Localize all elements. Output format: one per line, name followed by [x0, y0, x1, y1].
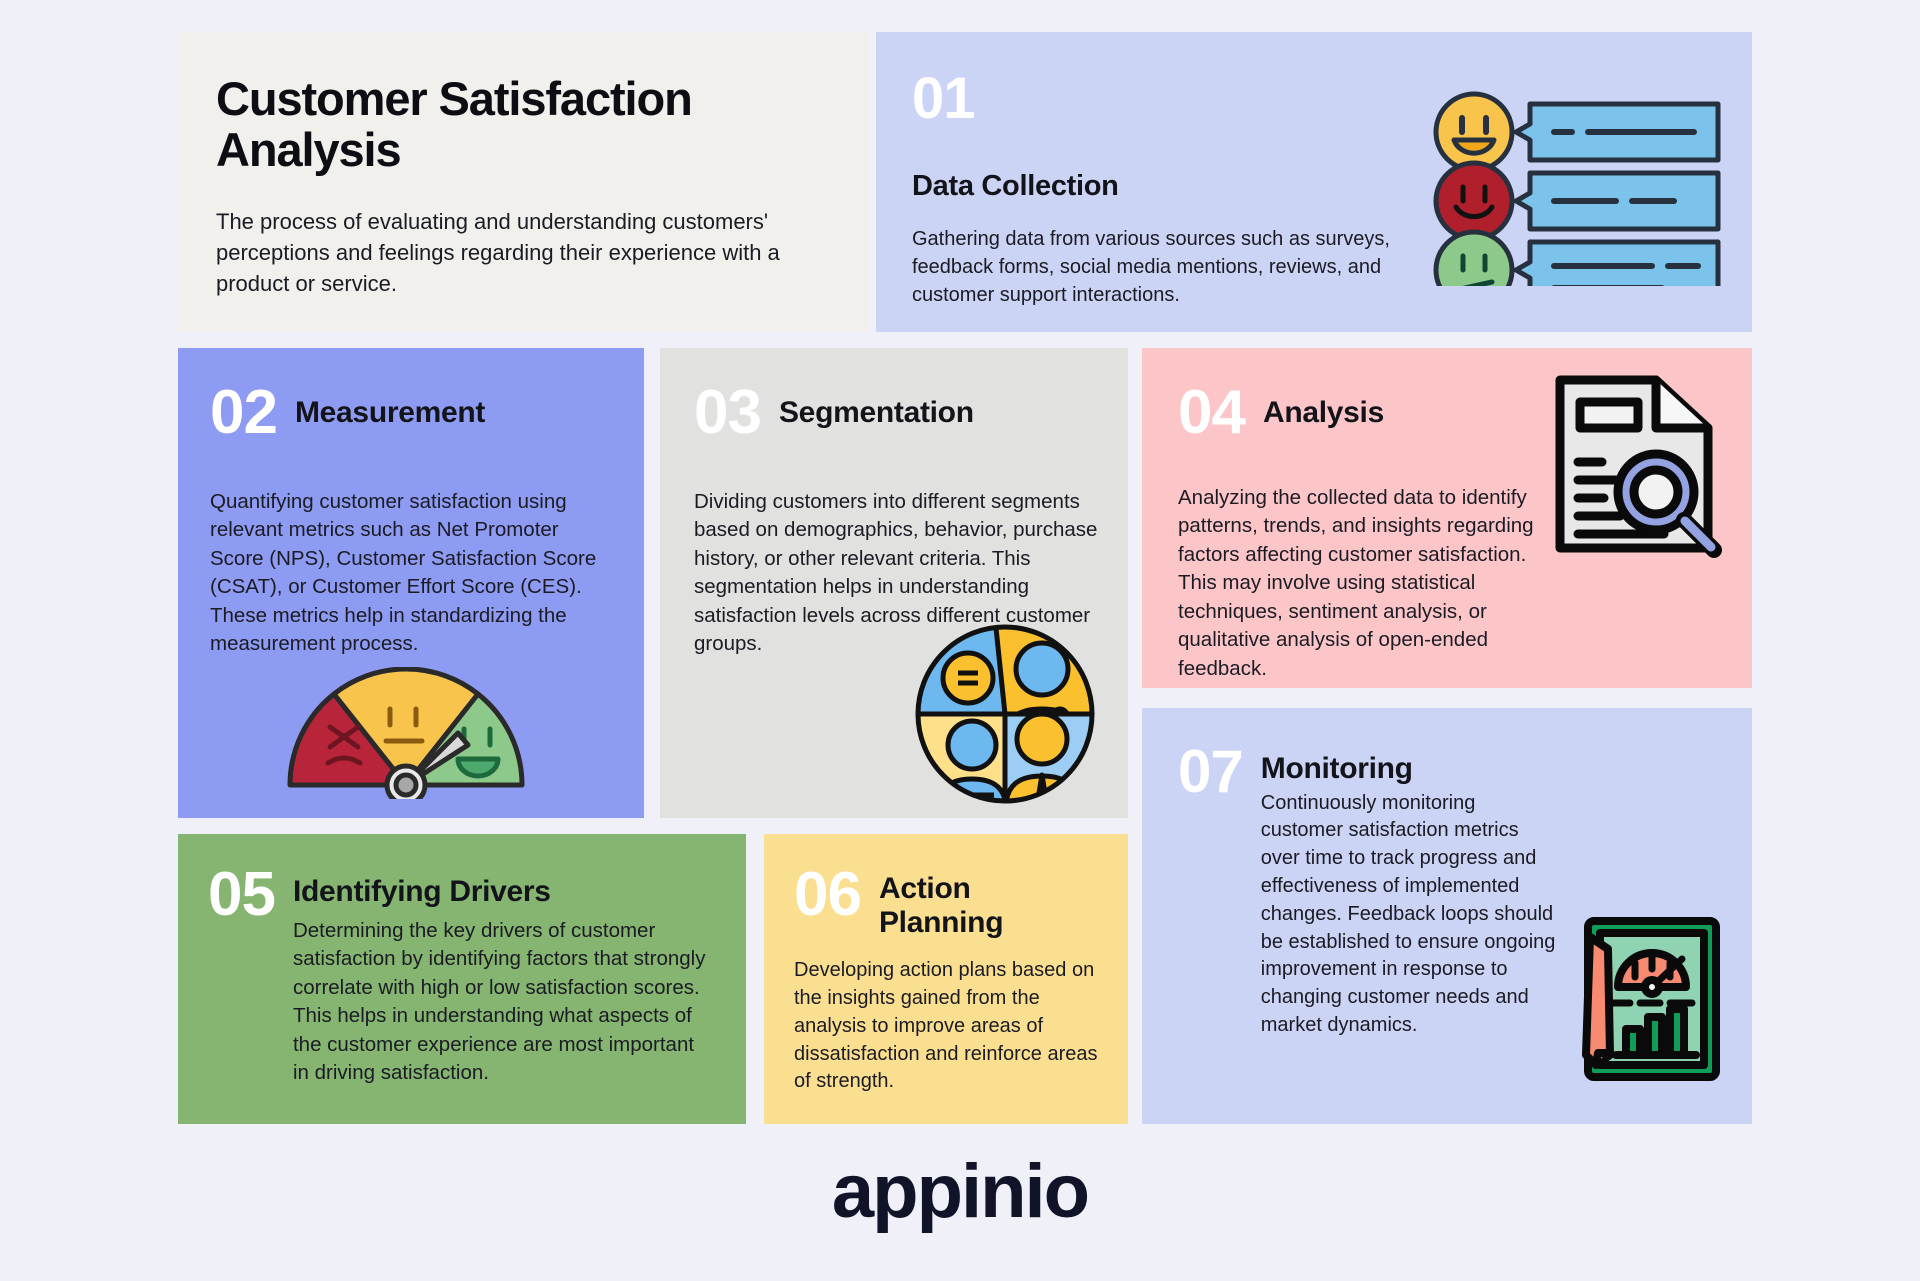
step-description-04: Analyzing the collected data to identify…: [1178, 484, 1538, 683]
step-number-07: 07: [1178, 742, 1243, 802]
title-card: Customer Satisfaction Analysis The proce…: [178, 32, 868, 332]
step-card-04: 04 Analysis Analyzing the collected data…: [1142, 348, 1752, 688]
customer-segments-pie-icon: [914, 623, 1096, 810]
satisfaction-gauge-icon: [282, 667, 530, 804]
step-title-06: Action Planning: [879, 872, 1054, 939]
step-card-07: 07 Monitoring Continuously monitoring cu…: [1142, 708, 1752, 1124]
step-header-05: 05 Identifying Drivers Determining the k…: [208, 862, 718, 1088]
step-number-04: 04: [1178, 382, 1245, 444]
step-title-03: Segmentation: [779, 396, 974, 430]
step-card-02: 02 Measurement Quantifying customer sati…: [178, 348, 644, 818]
step-card-01: 01 Data Collection Gathering data from v…: [876, 32, 1752, 332]
step-description-05: Determining the key drivers of customer …: [293, 917, 713, 1088]
step-number-05: 05: [208, 864, 275, 926]
step-header-03: 03 Segmentation: [694, 380, 1098, 444]
step-number-06: 06: [794, 864, 861, 926]
page-title: Customer Satisfaction Analysis: [216, 74, 824, 176]
step-description-06: Developing action plans based on the ins…: [794, 957, 1100, 1096]
page-subtitle: The process of evaluating and understand…: [216, 206, 824, 300]
step-title-05: Identifying Drivers: [293, 875, 713, 909]
document-magnifier-icon: [1548, 370, 1728, 565]
step-description-02: Quantifying customer satisfaction using …: [210, 488, 610, 659]
brand-logo: appinio: [0, 1148, 1920, 1235]
step-description-01: Gathering data from various sources such…: [912, 226, 1422, 309]
step-title-02: Measurement: [295, 396, 485, 430]
step-header-02: 02 Measurement: [210, 380, 610, 444]
step-header-06: 06 Action Planning: [794, 862, 1100, 939]
infographic-canvas: Customer Satisfaction Analysis The proce…: [0, 0, 1920, 1281]
step-number-02: 02: [210, 382, 277, 444]
step-card-06: 06 Action Planning Developing action pla…: [764, 834, 1128, 1124]
step-card-03: 03 Segmentation Dividing customers into …: [660, 348, 1128, 818]
step-number-03: 03: [694, 382, 761, 444]
step-description-07: Continuously monitoring customer satisfa…: [1261, 790, 1561, 1040]
step-title-07: Monitoring: [1261, 752, 1561, 786]
step-card-05: 05 Identifying Drivers Determining the k…: [178, 834, 746, 1124]
monitoring-dashboard-icon: [1574, 915, 1724, 1088]
feedback-smileys-icon: [1426, 76, 1726, 291]
step-title-04: Analysis: [1263, 396, 1384, 430]
brand-logo-text: appinio: [832, 1148, 1088, 1235]
